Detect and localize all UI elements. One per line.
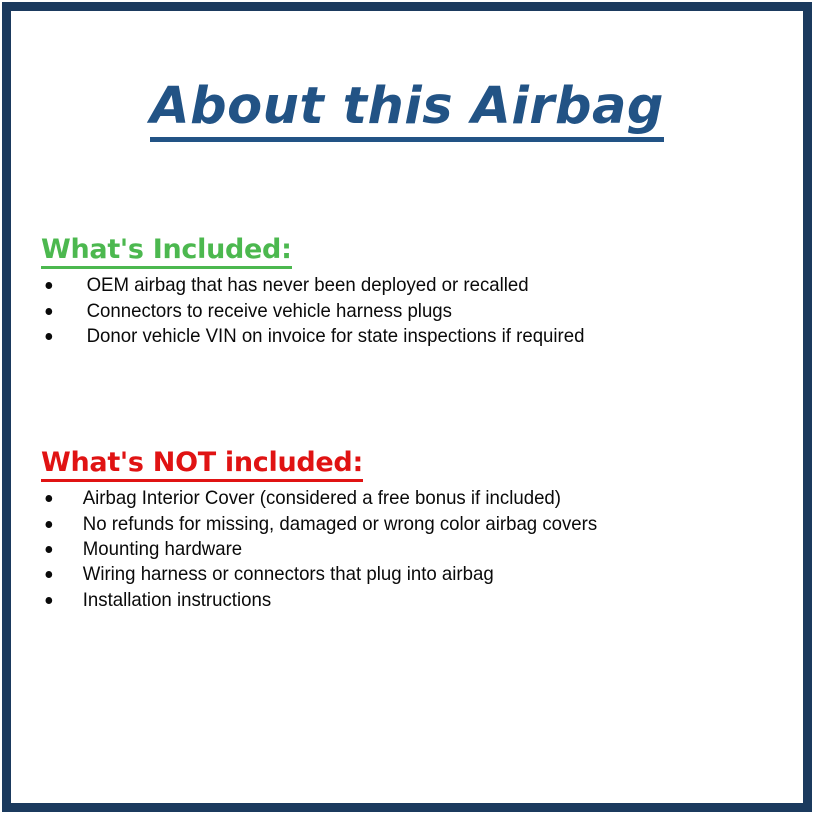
list-item: Wiring harness or connectors that plug i…: [35, 562, 749, 587]
bullet-icon: [46, 546, 53, 553]
about-airbag-page: About this Airbag What's Included: OEM a…: [0, 0, 814, 814]
page-content: About this Airbag What's Included: OEM a…: [11, 11, 803, 803]
list-item: Airbag Interior Cover (considered a free…: [35, 486, 749, 511]
list-item: No refunds for missing, damaged or wrong…: [35, 512, 749, 537]
section-included-heading: What's Included:: [41, 235, 783, 269]
bullet-icon: [46, 333, 53, 340]
list-item: Connectors to receive vehicle harness pl…: [35, 299, 749, 324]
list-item-label: Connectors to receive vehicle harness pl…: [35, 299, 749, 324]
bullet-icon: [46, 571, 53, 578]
list-item-label: Mounting hardware: [35, 537, 749, 562]
page-title-text: About this Airbag: [150, 79, 664, 142]
page-title: About this Airbag: [11, 79, 803, 142]
list-item-label: OEM airbag that has never been deployed …: [35, 273, 749, 298]
bullet-icon: [46, 282, 53, 289]
section-included-heading-text: What's Included:: [41, 235, 292, 269]
list-item: Installation instructions: [35, 588, 749, 613]
list-item-label: Installation instructions: [35, 588, 749, 613]
bullet-icon: [46, 521, 53, 528]
section-not-included: What's NOT included: Airbag Interior Cov…: [35, 448, 783, 613]
list-item-label: Wiring harness or connectors that plug i…: [35, 562, 749, 587]
included-list: OEM airbag that has never been deployed …: [35, 273, 783, 349]
list-item-label: Airbag Interior Cover (considered a free…: [35, 486, 749, 511]
section-not-included-heading: What's NOT included:: [41, 448, 783, 482]
not-included-list: Airbag Interior Cover (considered a free…: [35, 486, 783, 613]
list-item: Mounting hardware: [35, 537, 749, 562]
section-included: What's Included: OEM airbag that has nev…: [35, 235, 783, 349]
bullet-icon: [46, 495, 53, 502]
bullet-icon: [46, 597, 53, 604]
list-item-label: Donor vehicle VIN on invoice for state i…: [35, 324, 749, 349]
list-item-label: No refunds for missing, damaged or wrong…: [35, 512, 749, 537]
page-border-frame: About this Airbag What's Included: OEM a…: [2, 2, 812, 812]
bullet-icon: [46, 308, 53, 315]
section-not-included-heading-text: What's NOT included:: [41, 448, 363, 482]
list-item: Donor vehicle VIN on invoice for state i…: [35, 324, 749, 349]
list-item: OEM airbag that has never been deployed …: [35, 273, 749, 298]
